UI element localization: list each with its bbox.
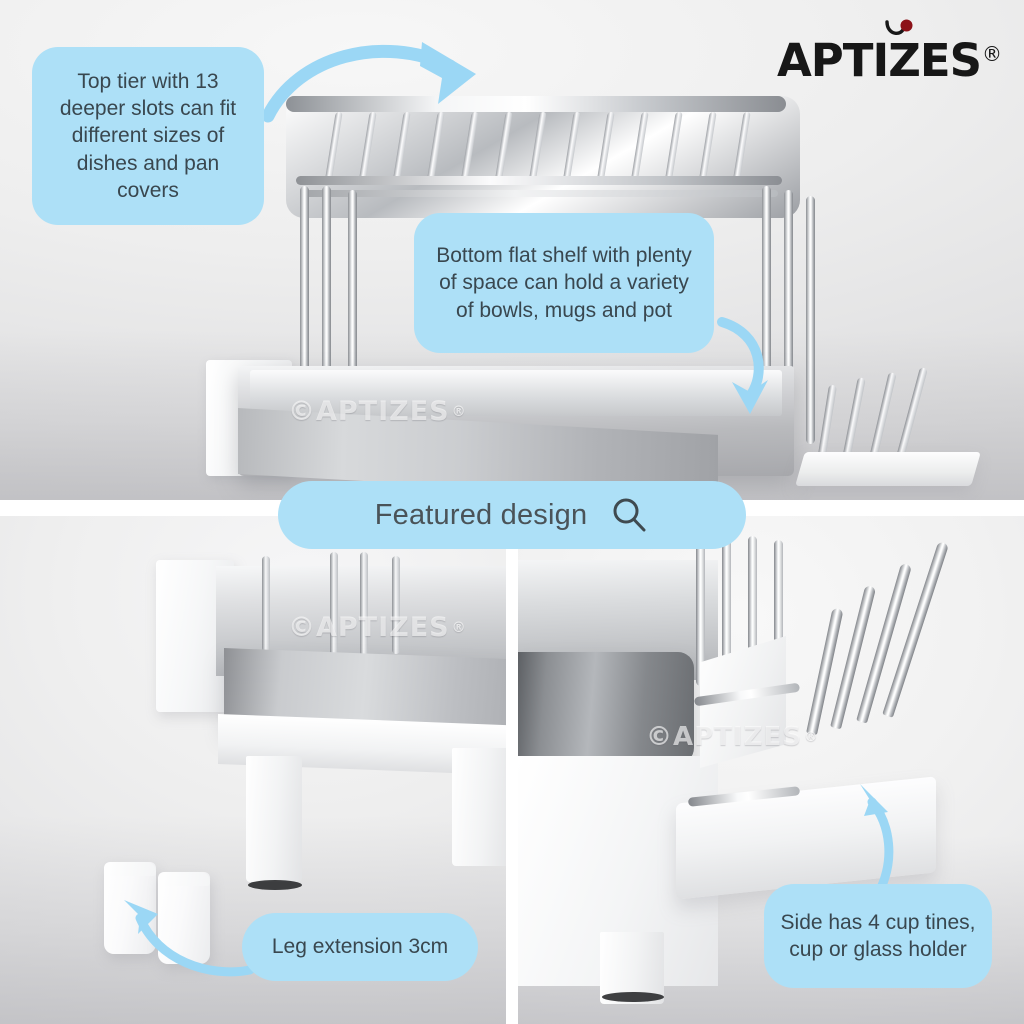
tray-front-face (518, 652, 694, 764)
callout-cup-tines: Side has 4 cup tines, cup or glass holde… (764, 884, 992, 988)
panel-divider-vertical (506, 516, 518, 1024)
rack-wire (360, 552, 368, 656)
featured-design-badge: Featured design (278, 481, 746, 549)
brand-registered-mark: ® (982, 42, 1002, 66)
support-post (348, 190, 357, 386)
featured-design-label: Featured design (375, 499, 588, 532)
brand-logo: APTIZES ® (777, 38, 1002, 83)
infographic-canvas: ©APTIZES® Top tier with 13 deeper slots … (0, 0, 1024, 1024)
rack-leg (452, 748, 506, 866)
panel-top: ©APTIZES® Top tier with 13 deeper slots … (0, 0, 1024, 500)
callout-bottom-shelf: Bottom flat shelf with plenty of space c… (414, 213, 714, 353)
rack-leg (246, 756, 302, 882)
callout-leg-extension: Leg extension 3cm (242, 913, 478, 981)
leg-foot (248, 880, 302, 890)
rack-wire (262, 556, 270, 652)
brand-accent-icon (884, 19, 914, 41)
rack-wire (330, 552, 338, 656)
leg-extension-lip (104, 862, 156, 876)
drip-tray (795, 452, 981, 486)
top-tier-rail (286, 96, 786, 112)
rack-wire (392, 556, 400, 654)
brand-name: APTIZES (777, 38, 981, 83)
search-icon (609, 495, 649, 535)
leg-foot (602, 992, 664, 1002)
shelf-inner-surface (250, 370, 782, 416)
top-tier-base-wire (296, 176, 782, 185)
callout-top-tier: Top tier with 13 deeper slots can fit di… (32, 47, 264, 225)
top-tier-base-wire (300, 190, 778, 197)
leg-extension-lip (158, 872, 210, 886)
